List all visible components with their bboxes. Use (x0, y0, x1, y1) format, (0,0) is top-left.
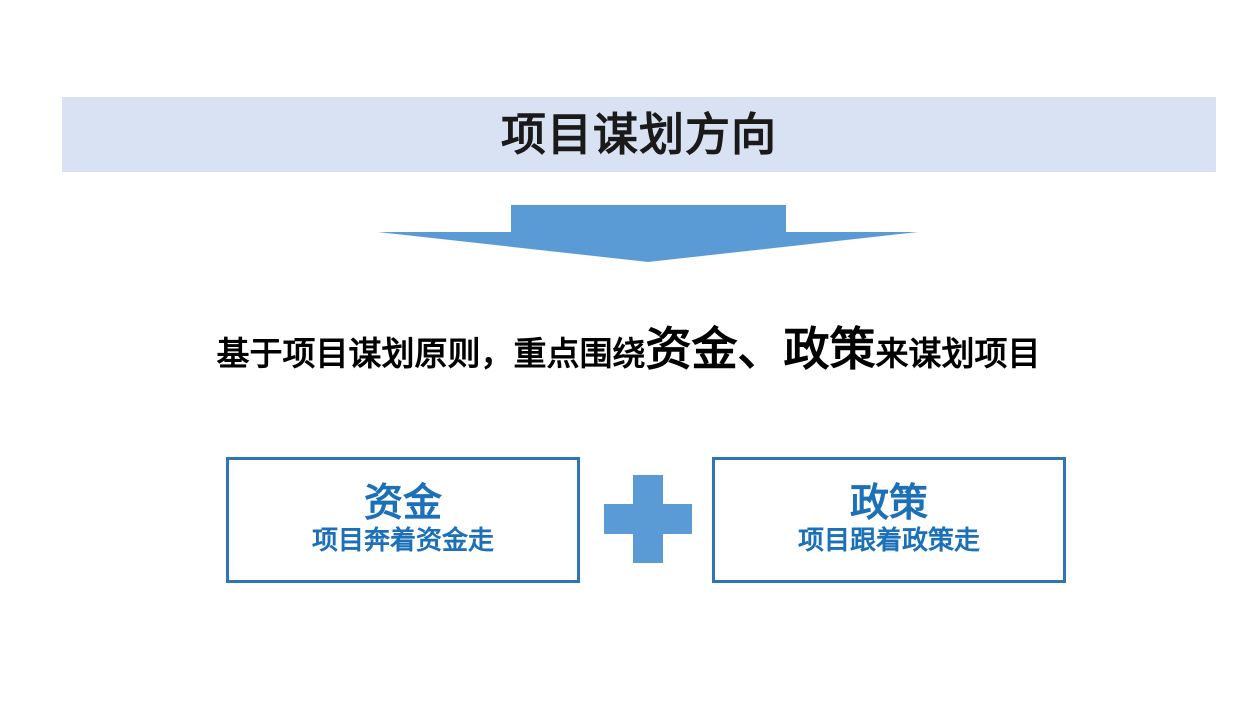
concept-subtitle-policy: 项目跟着政策走 (798, 526, 980, 556)
concept-box-funding[interactable]: 资金 项目奔着资金走 (226, 457, 580, 583)
page-title: 项目谋划方向 (62, 97, 1216, 172)
statement-segment-emphasis: 资金、政策 (646, 323, 876, 375)
plus-icon (604, 475, 692, 563)
statement-line: 基于项目谋划原则，重点围绕资金、政策来谋划项目 (0, 326, 1257, 372)
concept-title-policy: 政策 (850, 484, 928, 525)
plus-icon-vertical-bar (633, 475, 663, 563)
title-banner: 项目谋划方向 (62, 97, 1216, 172)
concept-title-funding: 资金 (364, 484, 442, 525)
concept-box-policy[interactable]: 政策 项目跟着政策走 (712, 457, 1066, 583)
arrow-down-icon (378, 203, 918, 265)
statement-segment-tail: 来谋划项目 (876, 335, 1041, 372)
slide-canvas: 项目谋划方向 基于项目谋划原则，重点围绕资金、政策来谋划项目 资金 项目奔着资金… (0, 0, 1257, 716)
concept-subtitle-funding: 项目奔着资金走 (312, 526, 494, 556)
statement-segment-lead: 基于项目谋划原则，重点围绕 (217, 335, 646, 372)
